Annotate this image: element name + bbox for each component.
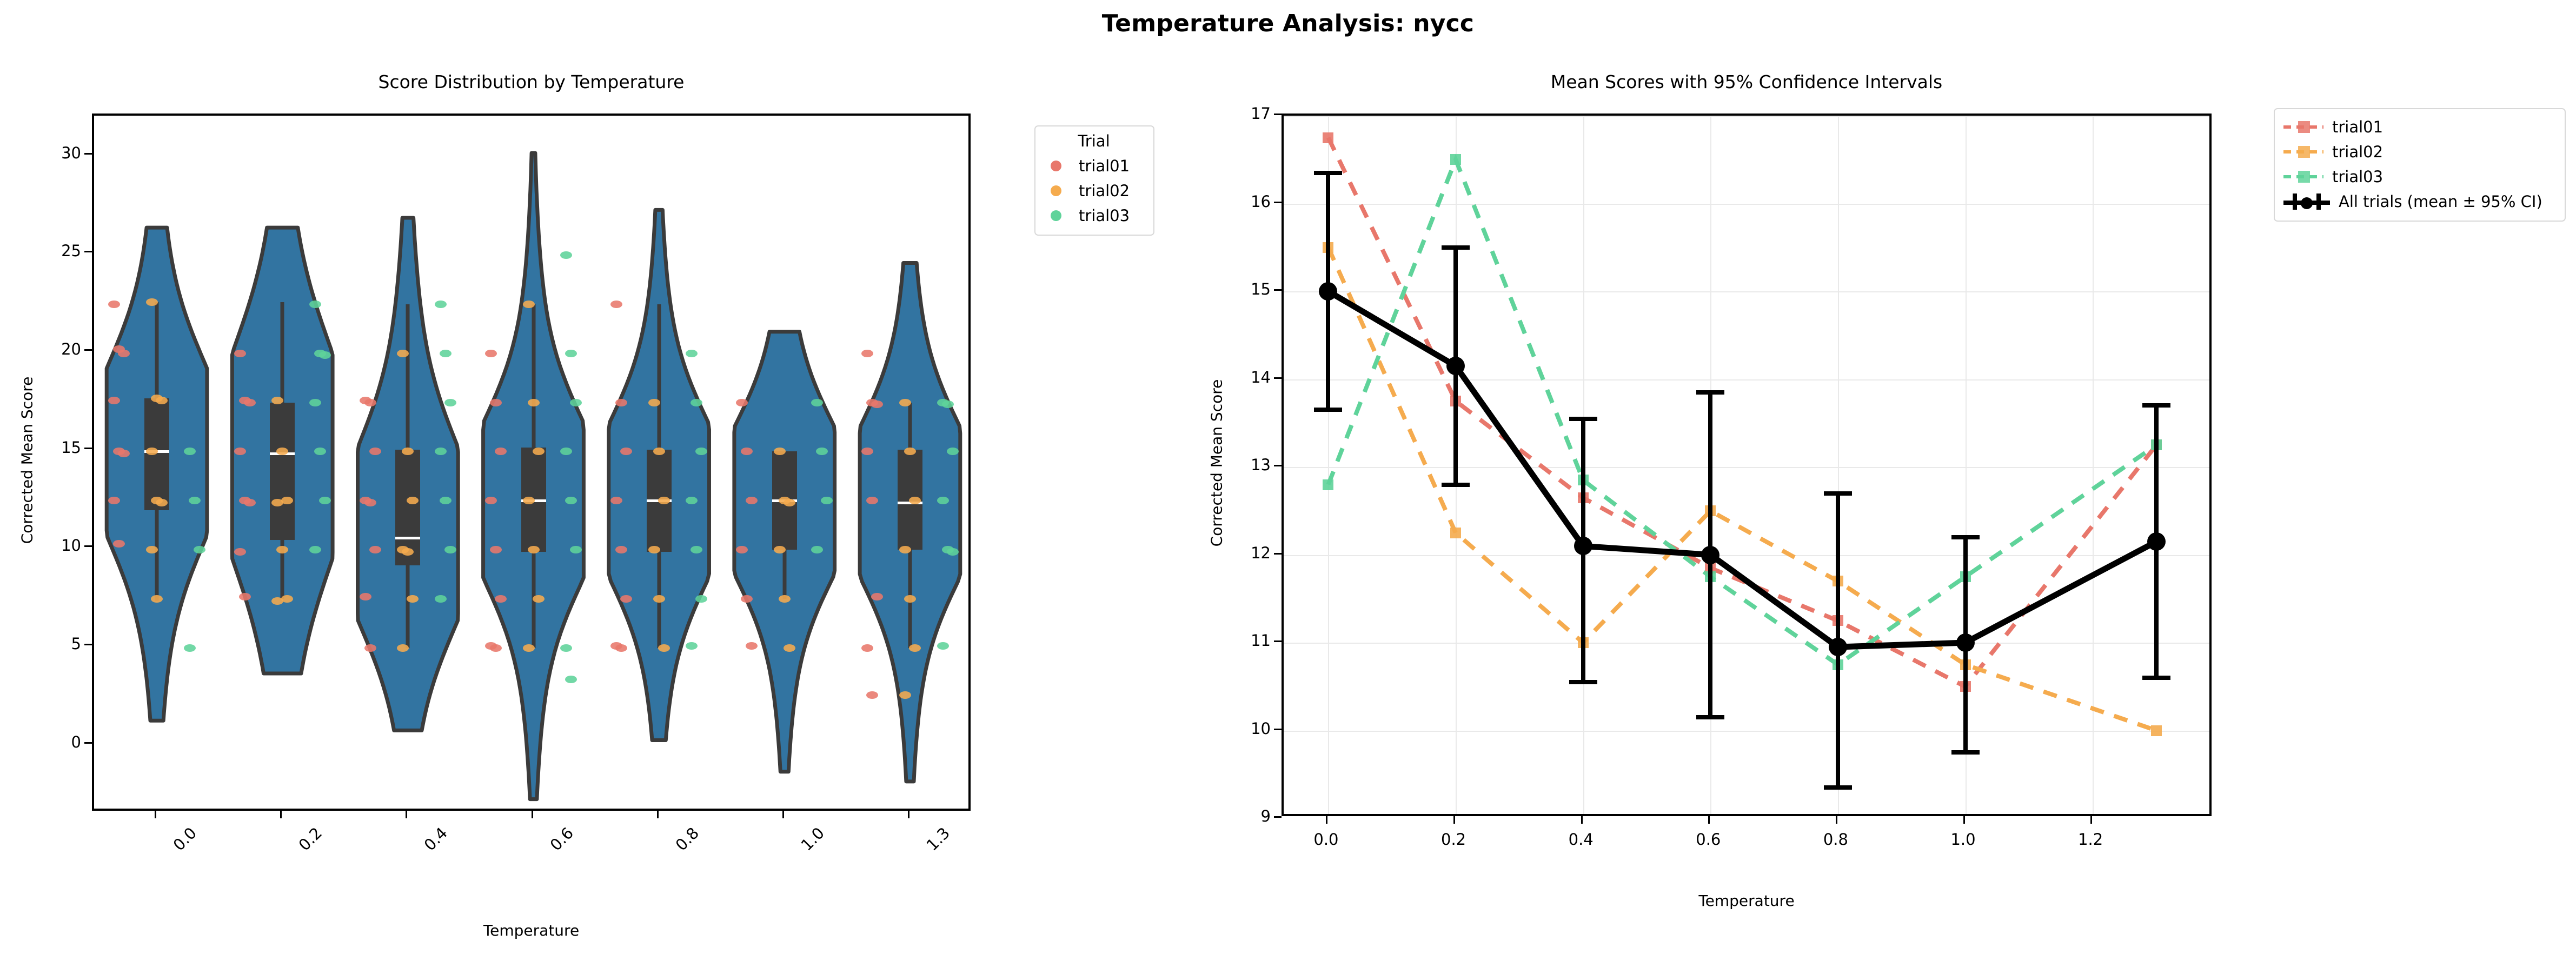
x-tick-label: 1.0 — [797, 824, 828, 855]
scatter-point-trial01 — [108, 397, 120, 404]
scatter-point-trial03 — [942, 401, 954, 408]
scatter-point-trial02 — [523, 497, 535, 504]
scatter-point-trial03 — [194, 546, 205, 553]
scatter-point-trial03 — [695, 448, 707, 455]
scatter-point-trial01 — [490, 546, 502, 553]
error-cap-upper — [1824, 491, 1852, 496]
legend-item-label: All trials (mean ± 95% CI) — [2339, 192, 2542, 211]
series-marker-trial02 — [2151, 725, 2162, 736]
scatter-point-trial03 — [565, 497, 577, 504]
scatter-point-trial02 — [523, 301, 535, 308]
scatter-point-trial02 — [151, 595, 163, 603]
left-panel-content — [94, 116, 968, 809]
scatter-point-trial01 — [234, 548, 246, 556]
scatter-point-trial02 — [904, 595, 916, 603]
scatter-point-trial03 — [444, 399, 456, 406]
y-tick-label: 20 — [0, 340, 92, 358]
x-tick-mark — [1453, 816, 1455, 824]
scatter-point-trial01 — [866, 497, 878, 504]
y-tick-label: 17 — [1179, 104, 1282, 123]
series-marker-trial02 — [1450, 528, 1461, 538]
left-panel-ylabel: Corrected Mean Score — [18, 358, 36, 563]
scatter-point-trial02 — [648, 399, 660, 406]
scatter-point-trial03 — [570, 399, 582, 406]
scatter-point-trial01 — [369, 546, 381, 553]
scatter-point-trial01 — [620, 595, 632, 603]
right-panel-content — [1284, 116, 2209, 814]
trial-dot-icon — [1051, 185, 1061, 196]
scatter-point-trial01 — [871, 401, 883, 408]
x-tick-label: 0.6 — [546, 824, 577, 855]
right-panel-legend[interactable]: trial01trial02trial03All trials (mean ± … — [2274, 108, 2566, 222]
x-tick-mark — [1326, 816, 1327, 824]
scatter-point-trial02 — [156, 499, 168, 506]
scatter-point-trial02 — [271, 597, 283, 605]
x-tick-mark — [406, 811, 407, 818]
scatter-point-trial02 — [402, 548, 414, 556]
scatter-point-trial02 — [658, 644, 670, 652]
scatter-point-trial02 — [146, 546, 158, 553]
scatter-point-trial01 — [615, 399, 627, 406]
legend-item-trial03[interactable]: trial03 — [1044, 203, 1144, 228]
scatter-point-trial02 — [774, 546, 786, 553]
scatter-point-trial03 — [189, 497, 201, 504]
series-line-trial02 — [1329, 248, 2157, 731]
y-tick-label: 10 — [1179, 719, 1282, 738]
series-line-All trials (mean ± 95% CI) — [1329, 291, 2157, 647]
legend-item-trial03[interactable]: trial03 — [2283, 164, 2555, 189]
error-cap-upper — [1951, 535, 1980, 539]
scatter-point-trial03 — [309, 399, 321, 406]
scatter-point-trial03 — [686, 642, 698, 650]
y-tick-label: 12 — [1179, 544, 1282, 562]
scatter-point-trial03 — [319, 351, 331, 359]
legend-item-trial01[interactable]: trial01 — [1044, 154, 1144, 178]
scatter-point-trial03 — [947, 448, 959, 455]
mean-marker — [1319, 282, 1337, 301]
x-tick-label: 1.0 — [1950, 830, 1975, 849]
x-tick-label: 0.2 — [295, 824, 326, 855]
right-panel-xlabel: Temperature — [1282, 892, 2212, 910]
series-marker-trial03 — [1323, 479, 1333, 490]
legend-item-trial01[interactable]: trial01 — [2283, 115, 2555, 139]
scatter-point-trial03 — [570, 546, 582, 553]
scatter-point-trial01 — [244, 399, 256, 406]
scatter-point-trial02 — [533, 595, 545, 603]
scatter-point-trial01 — [108, 301, 120, 308]
scatter-point-trial03 — [184, 448, 196, 455]
x-tick-label: 0.2 — [1441, 830, 1466, 849]
scatter-point-trial02 — [779, 595, 791, 603]
scatter-point-trial03 — [686, 350, 698, 357]
x-tick-label: 0.4 — [421, 824, 452, 855]
scatter-point-trial03 — [691, 399, 702, 406]
mean-marker — [1829, 638, 1847, 656]
scatter-point-trial01 — [234, 448, 246, 455]
legend-item-label: trial01 — [2332, 118, 2383, 136]
left-panel-xlabel: Temperature — [92, 922, 971, 939]
y-tick-label: 10 — [0, 536, 92, 555]
x-tick-mark — [1708, 816, 1710, 824]
y-tick-label: 0 — [0, 733, 92, 751]
scatter-point-trial02 — [146, 298, 158, 306]
scatter-point-trial02 — [533, 448, 545, 455]
scatter-point-trial01 — [490, 399, 502, 406]
scatter-point-trial01 — [741, 448, 753, 455]
error-cap-upper — [1442, 245, 1470, 250]
series-lines — [1284, 116, 2209, 814]
scatter-point-trial03 — [560, 644, 572, 652]
legend-title: Trial — [1044, 132, 1144, 150]
scatter-point-trial03 — [309, 546, 321, 553]
legend-item-label: trial01 — [1079, 157, 1130, 175]
scatter-point-trial03 — [937, 497, 949, 504]
scatter-point-trial02 — [271, 397, 283, 404]
y-tick-label: 14 — [1179, 368, 1282, 386]
scatter-point-trial01 — [861, 448, 873, 455]
scatter-point-trial03 — [440, 497, 452, 504]
series-marker-trial01 — [1323, 132, 1333, 143]
scatter-point-trial02 — [276, 546, 288, 553]
legend-item-trial02[interactable]: trial02 — [1044, 178, 1144, 203]
scatter-point-trial03 — [435, 448, 447, 455]
legend-item-label: trial02 — [1079, 182, 1130, 200]
scatter-point-trial02 — [146, 448, 158, 455]
x-tick-label: 1.3 — [922, 824, 953, 855]
right-panel-title: Mean Scores with 95% Confidence Interval… — [1282, 71, 2212, 92]
scatter-point-trial01 — [741, 595, 753, 603]
scatter-point-trial02 — [909, 497, 921, 504]
scatter-point-trial01 — [244, 499, 256, 506]
scatter-point-trial03 — [947, 548, 959, 556]
scatter-point-trial01 — [118, 450, 130, 457]
scatter-point-trial03 — [435, 301, 447, 308]
scatter-point-trial02 — [904, 448, 916, 455]
x-tick-label: 0.8 — [672, 824, 702, 855]
legend-item-label: trial03 — [2332, 168, 2383, 186]
x-tick-mark — [1836, 816, 1837, 824]
scatter-point-trial03 — [309, 301, 321, 308]
scatter-point-trial02 — [899, 399, 911, 406]
scatter-point-trial03 — [435, 595, 447, 603]
trial-dot-icon — [1051, 210, 1061, 221]
scatter-point-trial03 — [184, 644, 196, 652]
x-tick-mark — [532, 811, 533, 818]
mean-marker — [2147, 532, 2166, 551]
scatter-point-trial01 — [861, 350, 873, 357]
y-tick-label: 25 — [0, 242, 92, 260]
legend-item-trial02[interactable]: trial02 — [2283, 139, 2555, 164]
x-tick-mark — [280, 811, 282, 818]
scatter-point-trial01 — [364, 499, 376, 506]
scatter-point-trial02 — [899, 546, 911, 553]
x-tick-mark — [1581, 816, 1583, 824]
scatter-point-trial03 — [314, 448, 326, 455]
box-body — [270, 403, 295, 540]
legend-item-all-trials[interactable]: All trials (mean ± 95% CI) — [2283, 189, 2555, 214]
x-tick-mark — [782, 811, 784, 818]
scatter-point-trial02 — [276, 448, 288, 455]
scatter-point-trial02 — [407, 497, 419, 504]
scatter-point-trial01 — [736, 399, 748, 406]
x-tick-label: 0.6 — [1696, 830, 1721, 849]
scatter-point-trial01 — [118, 350, 130, 357]
scatter-point-trial03 — [691, 546, 702, 553]
scatter-point-trial03 — [816, 448, 828, 455]
scatter-point-trial03 — [560, 448, 572, 455]
scatter-point-trial02 — [523, 644, 535, 652]
box-median — [395, 537, 420, 539]
error-cap-lower — [1951, 750, 1980, 755]
scatter-point-trial02 — [402, 448, 414, 455]
scatter-point-trial01 — [364, 399, 376, 406]
error-cap-lower — [1442, 483, 1470, 487]
scatter-point-trial01 — [871, 593, 883, 600]
x-tick-mark — [155, 811, 156, 818]
y-tick-label: 16 — [1179, 192, 1282, 211]
error-cap-upper — [1314, 171, 1342, 175]
legend-item-label: trial03 — [1079, 206, 1130, 225]
scatter-point-trial01 — [746, 497, 758, 504]
scatter-point-trial02 — [397, 350, 409, 357]
x-tick-mark — [908, 811, 909, 818]
series-marker-trial03 — [1450, 154, 1461, 165]
scatter-point-trial01 — [866, 691, 878, 699]
series-line-trial03 — [1329, 159, 2157, 664]
scatter-point-trial01 — [485, 497, 497, 504]
scatter-point-trial01 — [615, 644, 627, 652]
scatter-point-trial03 — [811, 546, 823, 553]
scatter-point-trial01 — [746, 642, 758, 650]
scatter-point-trial01 — [861, 644, 873, 652]
scatter-point-trial03 — [821, 497, 833, 504]
scatter-point-trial02 — [774, 448, 786, 455]
scatter-point-trial03 — [695, 595, 707, 603]
scatter-point-trial02 — [528, 546, 540, 553]
scatter-point-trial01 — [369, 448, 381, 455]
scatter-point-trial03 — [444, 546, 456, 553]
scatter-point-trial02 — [658, 497, 670, 504]
left-panel-title: Score Distribution by Temperature — [92, 71, 971, 92]
scatter-point-trial03 — [811, 399, 823, 406]
error-cap-upper — [1696, 390, 1724, 395]
scatter-point-trial01 — [615, 546, 627, 553]
scatter-point-trial02 — [528, 399, 540, 406]
figure-title: Temperature Analysis: nycc — [0, 10, 2576, 37]
x-tick-label: 0.8 — [1823, 830, 1848, 849]
scatter-point-trial02 — [899, 691, 911, 699]
error-cap-upper — [1569, 417, 1597, 421]
scatter-point-trial01 — [239, 593, 251, 600]
y-tick-label: 15 — [0, 438, 92, 457]
y-tick-label: 15 — [1179, 280, 1282, 298]
scatter-point-trial03 — [937, 642, 949, 650]
x-tick-mark — [1963, 816, 1965, 824]
scatter-point-trial02 — [397, 644, 409, 652]
scatter-point-trial02 — [407, 595, 419, 603]
mean-marker — [1956, 633, 1975, 652]
scatter-point-trial01 — [113, 540, 125, 548]
x-tick-mark — [657, 811, 659, 818]
scatter-point-trial02 — [784, 499, 795, 506]
scatter-point-trial02 — [271, 499, 283, 506]
error-cap-lower — [2142, 676, 2170, 680]
scatter-point-trial01 — [495, 448, 507, 455]
scatter-point-trial03 — [440, 350, 452, 357]
scatter-point-trial01 — [620, 448, 632, 455]
mean-marker — [1446, 357, 1465, 375]
mean-marker — [1701, 546, 1719, 564]
scatter-point-trial01 — [610, 497, 622, 504]
scatter-point-trial02 — [653, 595, 665, 603]
error-cap-lower — [1824, 785, 1852, 790]
left-panel-legend[interactable]: Trial trial01trial02trial03 — [1034, 125, 1154, 236]
scatter-point-trial03 — [565, 676, 577, 683]
error-cap-lower — [1569, 680, 1597, 684]
trial-dot-icon — [1051, 161, 1061, 171]
scatter-point-trial01 — [360, 593, 371, 600]
scatter-point-trial02 — [156, 397, 168, 404]
scatter-point-trial01 — [485, 350, 497, 357]
scatter-point-trial01 — [108, 497, 120, 504]
error-cap-lower — [1314, 408, 1342, 412]
scatter-point-trial01 — [736, 546, 748, 553]
errorbar-marker-icon — [2283, 192, 2330, 211]
scatter-point-trial02 — [648, 546, 660, 553]
x-tick-mark — [2090, 816, 2092, 824]
scatter-point-trial01 — [364, 644, 376, 652]
y-tick-label: 30 — [0, 144, 92, 162]
scatter-point-trial01 — [490, 644, 502, 652]
scatter-point-trial01 — [234, 350, 246, 357]
y-tick-label: 5 — [0, 635, 92, 653]
scatter-point-trial02 — [909, 644, 921, 652]
x-tick-label: 0.4 — [1569, 830, 1594, 849]
x-tick-label: 0.0 — [170, 824, 201, 855]
scatter-point-trial03 — [319, 497, 331, 504]
x-tick-label: 1.2 — [2078, 830, 2103, 849]
scatter-point-trial01 — [610, 301, 622, 308]
y-tick-label: 13 — [1179, 456, 1282, 474]
x-tick-label: 0.0 — [1313, 830, 1338, 849]
mean-marker — [1574, 537, 1592, 555]
error-cap-lower — [1696, 715, 1724, 719]
scatter-point-trial03 — [565, 350, 577, 357]
scatter-point-trial01 — [495, 595, 507, 603]
scatter-point-trial02 — [653, 448, 665, 455]
y-tick-label: 11 — [1179, 631, 1282, 650]
scatter-point-trial03 — [560, 251, 572, 259]
figure-canvas: Temperature Analysis: nycc Score Distrib… — [0, 0, 2576, 961]
y-tick-label: 9 — [1179, 807, 1282, 825]
legend-item-label: trial02 — [2332, 143, 2383, 161]
scatter-point-trial03 — [686, 497, 698, 504]
error-cap-upper — [2142, 403, 2170, 408]
scatter-point-trial02 — [784, 644, 795, 652]
